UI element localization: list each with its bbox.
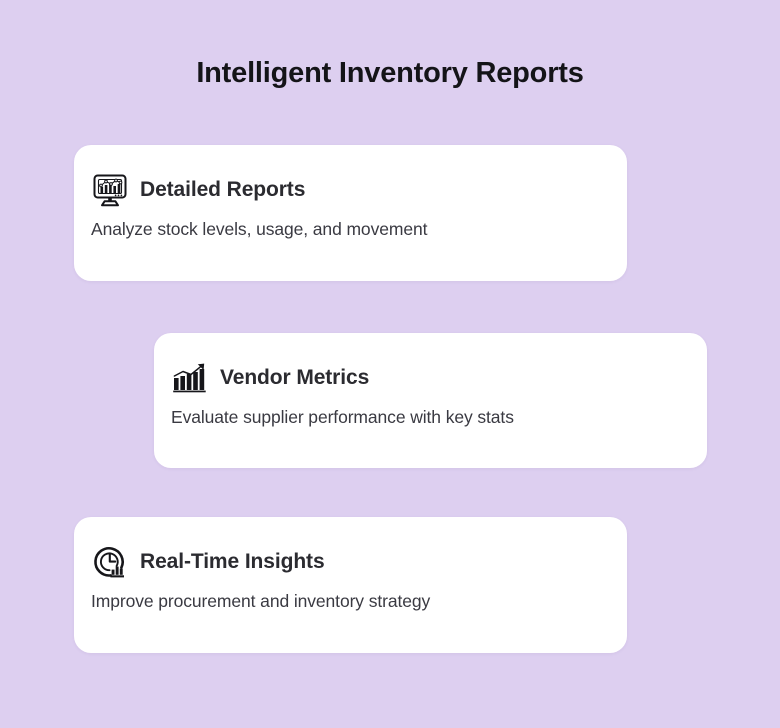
card-header: Vendor Metrics bbox=[170, 358, 369, 398]
feature-card-real-time-insights[interactable]: Real-Time Insights Improve procurement a… bbox=[74, 517, 627, 653]
card-description: Improve procurement and inventory strate… bbox=[91, 591, 430, 612]
card-title: Detailed Reports bbox=[140, 178, 305, 202]
card-header: Detailed Reports bbox=[90, 170, 305, 210]
page-title: Intelligent Inventory Reports bbox=[0, 55, 780, 91]
feature-card-detailed-reports[interactable]: Detailed Reports Analyze stock levels, u… bbox=[74, 145, 627, 281]
card-description: Evaluate supplier performance with key s… bbox=[171, 407, 514, 428]
card-title: Real-Time Insights bbox=[140, 550, 325, 574]
card-title: Vendor Metrics bbox=[220, 366, 369, 390]
card-description: Analyze stock levels, usage, and movemen… bbox=[91, 219, 427, 240]
monitor-analytics-icon bbox=[90, 170, 130, 210]
feature-card-vendor-metrics[interactable]: Vendor Metrics Evaluate supplier perform… bbox=[154, 333, 707, 468]
bar-chart-growth-icon bbox=[170, 358, 210, 398]
card-header: Real-Time Insights bbox=[90, 542, 325, 582]
clock-chart-icon bbox=[90, 542, 130, 582]
